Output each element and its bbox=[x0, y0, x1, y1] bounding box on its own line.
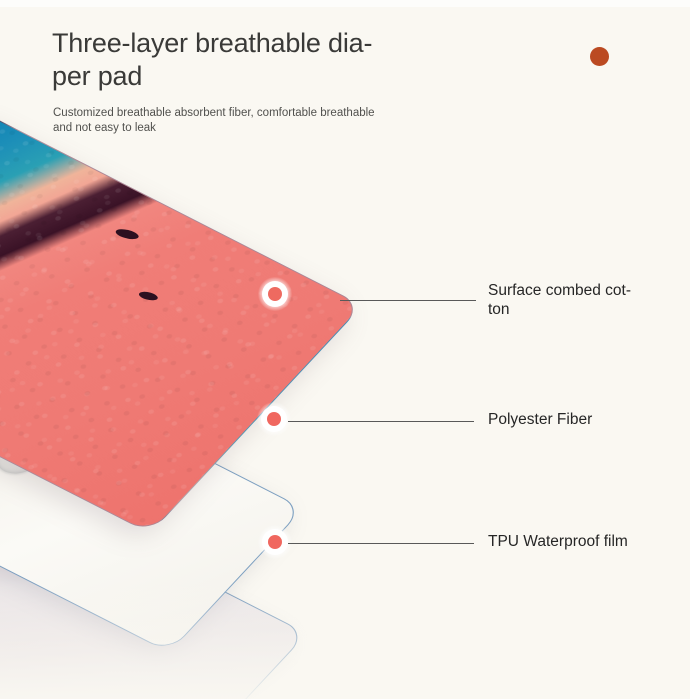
layered-pad-illustration bbox=[0, 160, 690, 699]
page-title: Three-layer breathable dia- per pad bbox=[52, 27, 412, 93]
marker-core bbox=[267, 412, 281, 426]
marker-core bbox=[268, 535, 282, 549]
pad-layer-cotton bbox=[0, 110, 363, 533]
callout-leader-line-polyester bbox=[288, 421, 474, 422]
marker-ring bbox=[261, 406, 287, 432]
callout-marker-tpu[interactable] bbox=[262, 529, 288, 555]
accent-dot-icon bbox=[590, 47, 609, 66]
callout-label-cotton: Surface combed cot- ton bbox=[488, 281, 670, 319]
marker-ring bbox=[262, 529, 288, 555]
callout-marker-polyester[interactable] bbox=[261, 406, 287, 432]
callout-marker-cotton[interactable] bbox=[262, 281, 288, 307]
cotton-texture bbox=[0, 111, 361, 532]
page-subtitle: Customized breathable absorbent fiber, c… bbox=[53, 106, 433, 136]
callout-leader-line-tpu bbox=[288, 543, 474, 544]
callout-label-tpu: TPU Waterproof film bbox=[488, 532, 688, 551]
callout-label-polyester: Polyester Fiber bbox=[488, 410, 678, 429]
top-divider-strip bbox=[0, 0, 690, 7]
marker-core bbox=[268, 287, 282, 301]
marker-ring bbox=[262, 281, 288, 307]
callout-leader-line-cotton bbox=[340, 300, 476, 301]
product-infographic-page: Three-layer breathable dia- per pad Cust… bbox=[0, 0, 690, 699]
pad-layer-cotton-surface bbox=[0, 110, 363, 533]
